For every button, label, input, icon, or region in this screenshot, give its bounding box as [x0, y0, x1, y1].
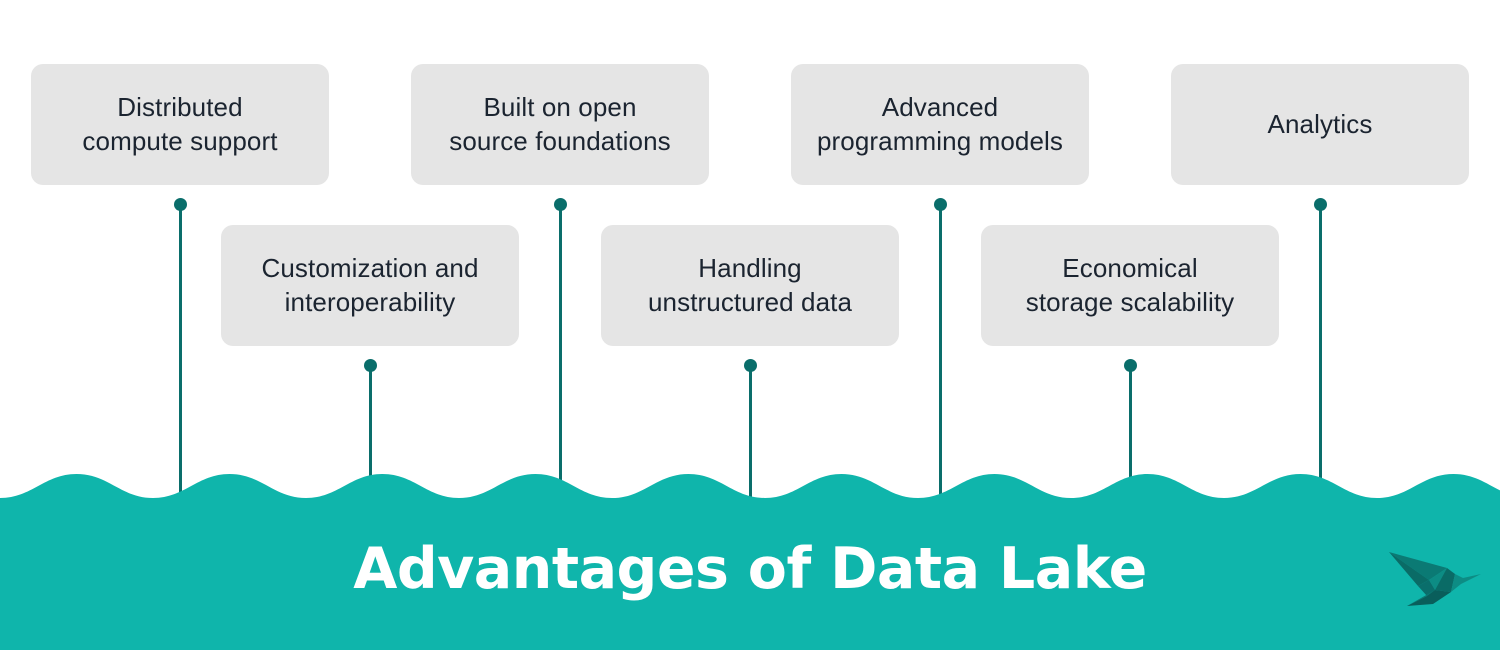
- origami-bird-logo: [1385, 534, 1485, 610]
- card-label-customization-and-interoperability: Customization and interoperability: [261, 252, 478, 320]
- card-distributed-compute-support[interactable]: Distributed compute support: [31, 64, 329, 185]
- connector-dot-built-on-open-source-foundations: [554, 198, 567, 211]
- connector-stem-advanced-programming-models: [939, 204, 942, 498]
- connector-stem-analytics: [1319, 204, 1322, 498]
- wave-path: [0, 474, 1500, 650]
- card-label-economical-storage-scalability: Economical storage scalability: [1026, 252, 1235, 320]
- connector-stem-distributed-compute-support: [179, 204, 182, 498]
- infographic-canvas: Distributed compute supportCustomization…: [0, 0, 1500, 650]
- connector-stem-built-on-open-source-foundations: [559, 204, 562, 498]
- card-customization-and-interoperability[interactable]: Customization and interoperability: [221, 225, 519, 346]
- connector-dot-handling-unstructured-data: [744, 359, 757, 372]
- card-label-handling-unstructured-data: Handling unstructured data: [648, 252, 852, 320]
- connector-dot-economical-storage-scalability: [1124, 359, 1137, 372]
- connector-dot-customization-and-interoperability: [364, 359, 377, 372]
- connector-dot-advanced-programming-models: [934, 198, 947, 211]
- card-built-on-open-source-foundations[interactable]: Built on open source foundations: [411, 64, 709, 185]
- connector-dot-analytics: [1314, 198, 1327, 211]
- card-label-advanced-programming-models: Advanced programming models: [817, 91, 1063, 159]
- card-handling-unstructured-data[interactable]: Handling unstructured data: [601, 225, 899, 346]
- lake-wave-shape: [0, 470, 1500, 650]
- connector-dot-distributed-compute-support: [174, 198, 187, 211]
- card-analytics[interactable]: Analytics: [1171, 64, 1469, 185]
- card-economical-storage-scalability[interactable]: Economical storage scalability: [981, 225, 1279, 346]
- card-label-distributed-compute-support: Distributed compute support: [82, 91, 277, 159]
- card-label-built-on-open-source-foundations: Built on open source foundations: [449, 91, 671, 159]
- card-label-analytics: Analytics: [1268, 108, 1373, 142]
- card-advanced-programming-models[interactable]: Advanced programming models: [791, 64, 1089, 185]
